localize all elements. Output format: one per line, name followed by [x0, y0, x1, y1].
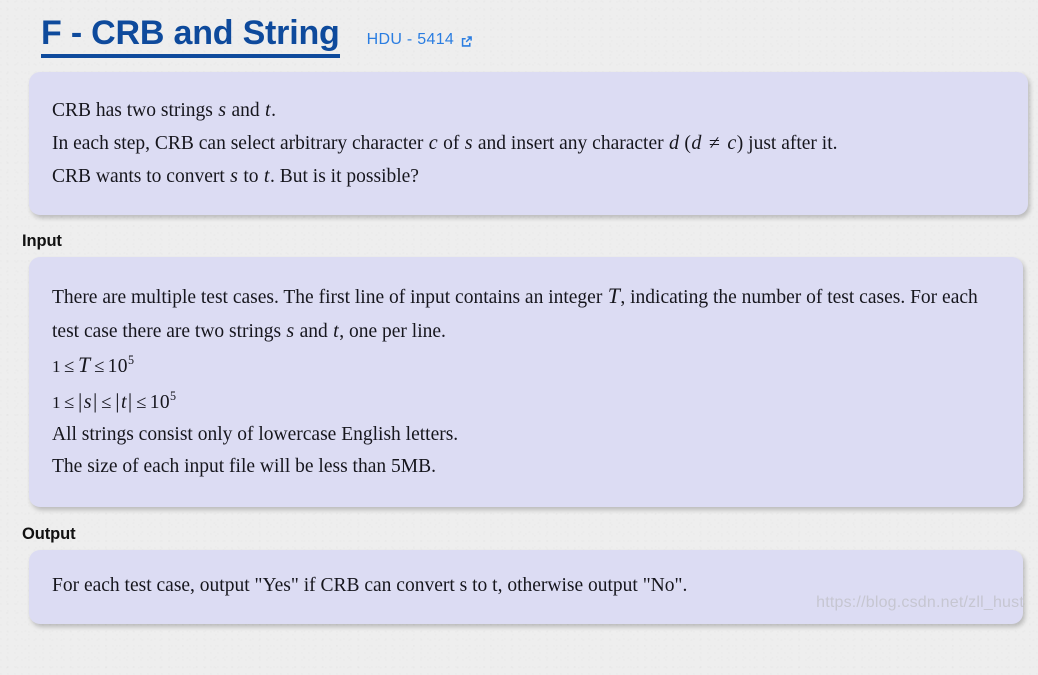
math-var-t: t [263, 165, 270, 187]
math-number: 10 [150, 392, 170, 413]
statement-text: ( [680, 133, 691, 154]
math-var-T: T [78, 353, 92, 377]
statement-text: CRB wants to convert [52, 166, 230, 187]
source-link[interactable]: HDU - 5414 [367, 31, 474, 49]
statement-text: of [438, 133, 464, 154]
statement-text: . But is it possible? [270, 166, 419, 187]
statement-text: . [271, 100, 276, 121]
math-var-c: c [428, 132, 438, 154]
statement-text: CRB has two strings [52, 100, 218, 121]
input-section: Input There are multiple test cases. The… [0, 232, 1038, 507]
math-leq: ≤ [98, 392, 115, 413]
math-var-s: s [286, 320, 295, 342]
math-exponent: 5 [128, 353, 134, 367]
math-var-d2: d [691, 132, 702, 154]
external-link-icon [459, 34, 474, 49]
math-not-equal: ≠ [702, 132, 727, 154]
math-leq: ≤ [61, 392, 78, 413]
output-heading: Output [22, 525, 1038, 544]
input-text: , one per line. [339, 321, 446, 342]
input-line-letters: All strings consist only of lowercase En… [52, 419, 997, 451]
problem-page: F - CRB and String HDU - 5414 CRB has tw… [0, 0, 1038, 624]
math-number: 1 [52, 357, 61, 376]
statement-text: to [238, 166, 263, 187]
page-title[interactable]: F - CRB and String [41, 14, 340, 58]
source-label: HDU - 5414 [367, 31, 454, 49]
statement-text: and insert any character [473, 133, 668, 154]
math-leq: ≤ [61, 356, 78, 377]
statement-line-3: CRB wants to convert s to t. But is it p… [52, 160, 1000, 193]
statement-line-2: In each step, CRB can select arbitrary c… [52, 127, 1000, 160]
output-text: For each test case, output "Yes" if CRB … [52, 570, 997, 602]
statement-text: In each step, CRB can select arbitrary c… [52, 133, 428, 154]
output-section: Output For each test case, output "Yes" … [0, 525, 1038, 624]
math-number: 10 [108, 356, 128, 377]
math-var-T: T [607, 284, 620, 308]
input-text: and [295, 321, 333, 342]
math-var-s: s [464, 132, 473, 154]
statement-text: ) just after it. [737, 133, 838, 154]
math-var-s: s [218, 99, 227, 121]
math-var-d: d [668, 132, 679, 154]
page-header: F - CRB and String HDU - 5414 [0, 0, 1038, 62]
math-exponent: 5 [170, 389, 176, 403]
input-line-filesize: The size of each input file will be less… [52, 451, 997, 483]
input-paragraph: There are multiple test cases. The first… [52, 279, 997, 348]
math-leq: ≤ [91, 356, 108, 377]
statement-text: and [227, 100, 265, 121]
statement-line-1: CRB has two strings s and t. [52, 94, 1000, 127]
input-constraint-1: 1≤T≤105 [52, 348, 997, 384]
statement-panel: CRB has two strings s and t. In each ste… [29, 72, 1028, 215]
math-number: 1 [52, 393, 61, 412]
math-var-c2: c [727, 132, 737, 154]
math-leq: ≤ [133, 392, 150, 413]
input-text: There are multiple test cases. The first… [52, 287, 607, 308]
input-heading: Input [22, 232, 1038, 251]
input-constraint-2: 1≤|s|≤|t|≤105 [52, 384, 997, 419]
output-panel: For each test case, output "Yes" if CRB … [29, 550, 1023, 624]
input-panel: There are multiple test cases. The first… [29, 257, 1023, 507]
